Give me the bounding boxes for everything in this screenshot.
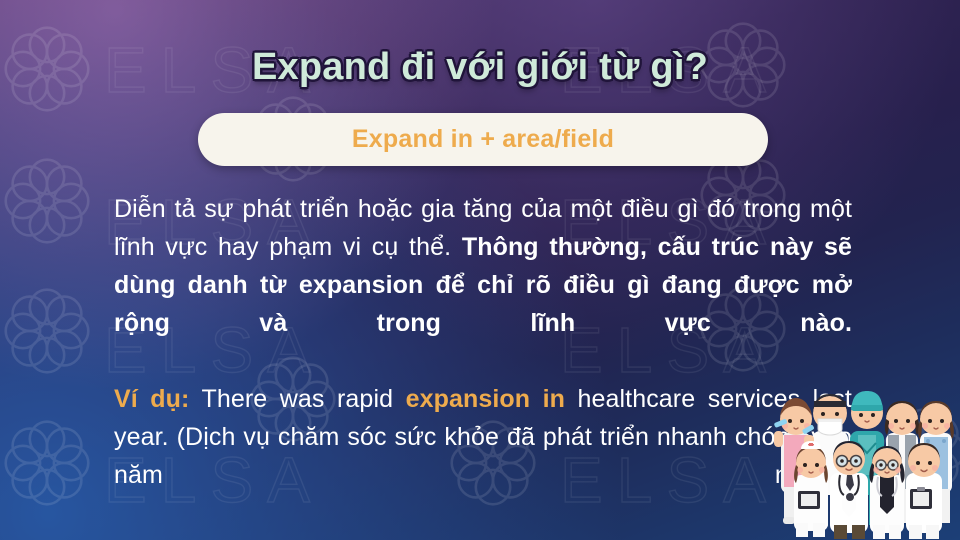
formula-pill-label: Expand in + area/field bbox=[352, 125, 614, 154]
star-motif-icon bbox=[4, 420, 90, 506]
worker-clipboard-man bbox=[906, 443, 942, 539]
worker-nurse-clipboard bbox=[794, 441, 828, 537]
example-line: Ví dụ: There was rapid expansion in heal… bbox=[114, 380, 852, 532]
formula-pill-badge: Expand in + area/field bbox=[198, 113, 768, 166]
example-label: Ví dụ: bbox=[114, 385, 189, 413]
example-pre-text: There was rapid bbox=[189, 385, 405, 413]
healthcare-workers-illustration bbox=[774, 375, 960, 540]
slide-title: Expand đi với giới từ gì? bbox=[0, 46, 960, 89]
example-highlight: expansion in bbox=[406, 385, 565, 413]
worker-female-doctor bbox=[869, 446, 904, 539]
slide-canvas: ELSA ELSA ELSA ELSA ELSA ELSA ELSA ELSA bbox=[0, 0, 960, 540]
star-motif-icon bbox=[4, 288, 90, 374]
explanation-paragraph: Diễn tả sự phát triển hoặc gia tăng của … bbox=[114, 190, 852, 532]
explanation-line: Diễn tả sự phát triển hoặc gia tăng của … bbox=[114, 190, 852, 380]
worker-male-doctor bbox=[830, 441, 868, 539]
star-motif-icon bbox=[4, 158, 90, 244]
